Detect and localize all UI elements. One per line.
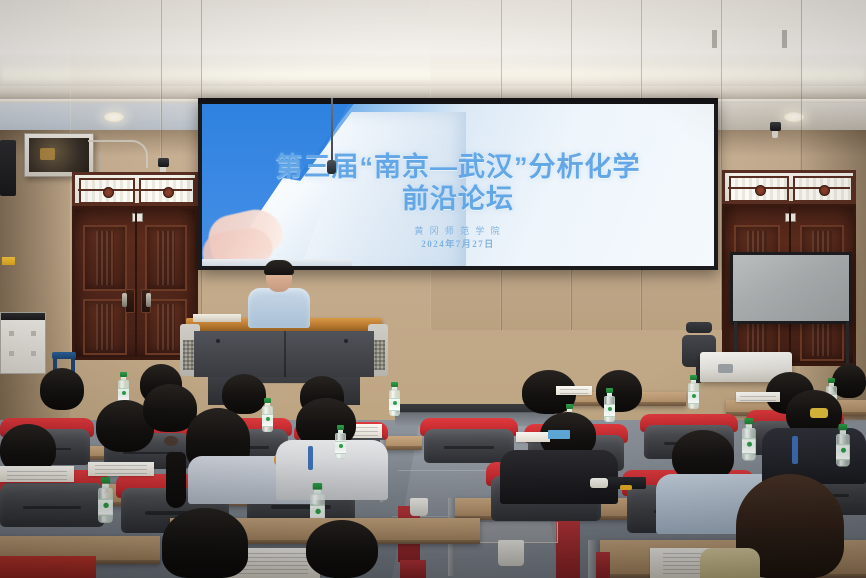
hanging-microphone-wire [331,98,333,164]
podium-seam [284,331,286,377]
door-flutes [157,231,175,286]
chair-back [0,483,103,527]
cabinet-top [1,313,45,320]
bottle-label [688,391,699,404]
door-flutes [157,304,175,350]
audience-member [306,520,378,578]
slide-title-line-2: 前沿论坛 [202,184,714,214]
lanyard [308,446,313,470]
projector-internals [29,138,89,172]
desk-side-panel [556,520,580,578]
wall-speaker [0,140,16,196]
door-panel [83,299,126,355]
audience-member [40,368,84,410]
podium-fastener [216,339,220,343]
audience-hair [306,520,378,578]
stool-seat [52,352,76,359]
cabinet-marking [31,351,36,356]
bottle-cap [313,483,322,490]
audience-torso [700,548,760,578]
transom-window [722,170,856,204]
audience-hair [162,508,248,578]
projected-slide: 第三届“南京—武汉”分析化学 前沿论坛 黄 冈 师 范 学 院 2024年7月2… [202,104,714,266]
bottle-cap [101,477,110,484]
transom-ornament [163,187,174,198]
slide-organization: 黄 冈 师 范 学 院 [202,224,714,237]
whiteboard-leg [846,322,849,364]
tissue [590,478,608,488]
door-flutes [96,231,115,286]
audience-ponytail [166,452,186,508]
lecture-hall-photo: 第三届“南京—武汉”分析化学 前沿论坛 黄 冈 师 范 学 院 2024年7月2… [0,0,866,578]
transom-bar [728,187,850,189]
audience-member [596,370,642,412]
audience-hair [596,370,642,412]
bottle-label [742,438,756,454]
hair-tie [164,436,178,446]
desk-leg [712,30,717,48]
podium-document [193,314,241,322]
cable-conduit [88,140,148,168]
slide-date: 2024年7月27日 [202,237,714,250]
chair-back [424,429,514,463]
chair-headrest [686,322,712,333]
transom-ornament [755,185,766,196]
bottle-label [604,404,615,417]
audience-torso [500,450,618,504]
bottle-label [262,414,273,427]
open-booklet [0,466,74,482]
cabinet-marking [31,331,36,336]
open-booklet [556,386,592,395]
snack-item [810,408,828,418]
chair-slot [23,506,81,509]
desk-leg [782,30,787,48]
hanging-microphone [327,160,336,174]
white-storage-cabinet[interactable] [0,312,46,374]
desk-slot [718,364,733,373]
door-leaf-left[interactable] [75,209,135,357]
blue-folder [548,430,570,439]
camera-icon [770,122,781,131]
transom-bar [78,189,192,191]
slide-text-block: 第三届“南京—武汉”分析化学 前沿论坛 黄 冈 师 范 学 院 2024年7月2… [202,104,714,266]
whiteboard-on-stand[interactable] [730,252,852,324]
open-booklet [88,462,154,476]
presenter-hair [264,260,294,275]
transom-ornament [103,187,114,198]
bottle-label [98,499,113,517]
pen [620,485,632,490]
desk-side-panel [0,556,96,578]
lectern-podium[interactable] [186,318,382,404]
waste-bin [498,540,524,566]
camera-icon [158,158,169,167]
door-panel [83,225,126,291]
ceiling-projector-housing [24,133,94,177]
projection-screen[interactable]: 第三届“南京—武汉”分析化学 前沿论坛 黄 冈 师 范 学 院 2024年7月2… [198,98,718,270]
podium-fastener [344,339,348,343]
transom-ornament [819,185,830,196]
bottle-label [389,398,400,411]
slide-title-line-1: 第三届“南京—武汉”分析化学 [202,152,714,182]
audience-hair [40,368,84,410]
audience-torso [276,440,388,500]
desk-leg [588,540,596,578]
bottle-label [335,441,346,454]
chair-slot [444,446,495,448]
cabinet-marking [9,351,14,356]
podium-body [194,331,374,377]
door-flutes [96,304,115,350]
notebook [516,432,550,442]
desk-side-panel [400,560,426,578]
wall-sign [2,257,15,265]
bottle-label [836,444,850,460]
open-booklet [736,392,780,402]
whiteboard-surface[interactable] [733,255,849,321]
presenter [248,262,310,324]
waste-bin [410,498,428,516]
chair-slot [123,452,171,455]
cabinet-marking [9,331,14,336]
door-handle[interactable] [122,293,127,307]
transom-window [72,172,198,206]
door-panel [145,225,187,291]
audience-member [162,508,248,578]
lanyard [792,436,798,464]
door-handle[interactable] [146,293,151,307]
